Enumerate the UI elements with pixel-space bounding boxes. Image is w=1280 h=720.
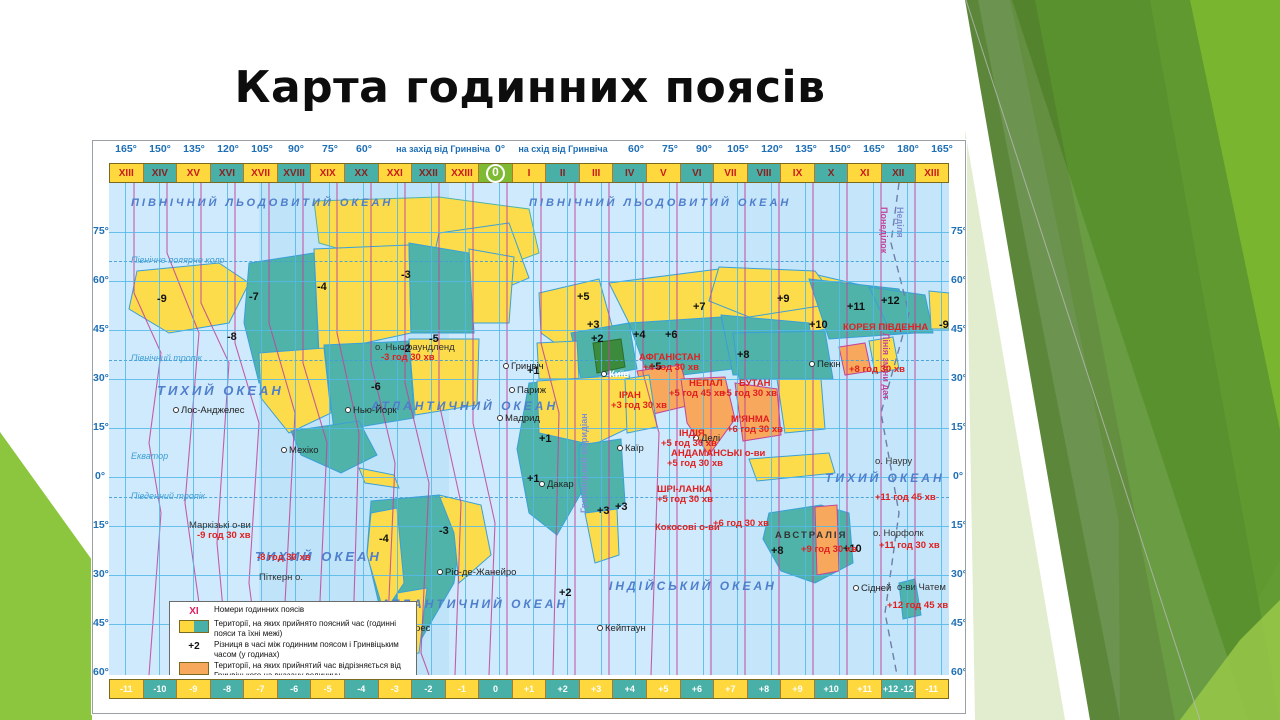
zone-number-cell: XVI <box>211 164 245 182</box>
latitude-label-left: 15° <box>93 421 109 433</box>
longitude-label: 90° <box>288 143 304 155</box>
zone-offset: +3 <box>615 501 628 513</box>
zone-number-cell: VIII <box>748 164 782 182</box>
zone-offset: -9 <box>939 319 949 331</box>
latitude-label-right: 75° <box>951 225 966 237</box>
special-zone-offset: +6 год 30 хв <box>727 425 783 435</box>
city-dot <box>809 361 815 367</box>
offset-cell: -8 <box>211 680 245 698</box>
special-zone-offset: +11 год 45 хв <box>875 493 936 503</box>
special-zone-offset: +6 год 30 хв <box>713 519 769 529</box>
zone-offset: +3 <box>597 505 610 517</box>
city-name: Каїр <box>625 443 644 454</box>
zone-number-cell: VI <box>681 164 715 182</box>
city-dot <box>173 407 179 413</box>
ocean-label: АТЛАНТИЧНИЙ ОКЕАН <box>371 399 558 413</box>
latitude-label-right: 60° <box>951 666 966 678</box>
zone-number-cell: XXII <box>412 164 446 182</box>
special-zone-offset: +3 год 30 хв <box>611 401 667 411</box>
zone-offset: -9 <box>157 293 167 305</box>
city-label: Нью-Йорк <box>345 405 397 416</box>
city-label: Пекін <box>809 359 841 370</box>
city-label: Кейптаун <box>597 623 646 634</box>
zone-number-cell: I <box>513 164 547 182</box>
offset-cell: -7 <box>244 680 278 698</box>
zone-number-cell: XII <box>882 164 916 182</box>
latitude-label-left: 0° <box>95 470 105 482</box>
legend-swatch-zone-pair <box>179 620 209 633</box>
legend-offset-sample: +2 <box>188 641 199 652</box>
offset-cell: +9 <box>781 680 815 698</box>
offset-cell: +11 <box>848 680 882 698</box>
zone-offset: -3 <box>439 525 449 537</box>
zone-offset: -4 <box>379 533 389 545</box>
special-zone-name: КОРЕЯ ПІВДЕННА <box>843 323 928 333</box>
zone-offset: +6 <box>665 329 678 341</box>
special-zone-offset: +11 год 30 хв <box>879 541 940 551</box>
offset-cell: +12 -12 <box>882 680 916 698</box>
offset-cell: +4 <box>613 680 647 698</box>
city-dot <box>509 387 515 393</box>
city-label: Мадрид <box>497 413 540 424</box>
city-dot <box>597 625 603 631</box>
zone-number-cell: IV <box>613 164 647 182</box>
city-dot <box>281 447 287 453</box>
legend-text: Різниця в часі між годинним поясом і Гри… <box>214 640 412 659</box>
latitude-label-right: 0° <box>953 470 963 482</box>
zone-offset: +5 <box>577 291 590 303</box>
longitude-label: 165° <box>863 143 885 155</box>
longitude-label: 90° <box>696 143 712 155</box>
zone-offset: +9 <box>777 293 790 305</box>
ocean-label: ПІВНІЧНИЙ ЛЬОДОВИТИЙ ОКЕАН <box>131 197 393 209</box>
geo-line-label: Південний тропік <box>131 491 205 501</box>
city-label: Гринвіч <box>503 361 544 372</box>
zone-number-cell: XIII <box>916 164 949 182</box>
special-zone-offset: +5 год 30 хв <box>667 459 723 469</box>
city-name: Мехіко <box>289 445 319 456</box>
zone-number-cell: III <box>580 164 614 182</box>
zone-number-cell: 0 <box>479 164 513 182</box>
longitude-label: 150° <box>829 143 851 155</box>
offset-cell: -10 <box>144 680 178 698</box>
city-dot <box>345 407 351 413</box>
legend-key <box>174 661 214 675</box>
latitude-label-right: 30° <box>951 372 966 384</box>
longitude-label: 135° <box>795 143 817 155</box>
special-zone-offset: +9 год 30 хв <box>801 545 857 555</box>
longitude-label: 165° <box>931 143 953 155</box>
zone-number-cell: XI <box>848 164 882 182</box>
zone-offset: -8 <box>227 331 237 343</box>
city-dot <box>539 481 545 487</box>
special-zone-name: Кокосові о-ви <box>655 523 720 533</box>
zone-number-cell: XXIII <box>446 164 480 182</box>
special-zone-offset: +5 год 30 хв <box>657 495 713 505</box>
special-zone-name: о. Науру <box>875 457 912 467</box>
zone-number-cell: XIII <box>110 164 144 182</box>
legend-row: Території, на яких прийнятий час відрізн… <box>174 661 412 675</box>
legend-text: Номери годинних поясів <box>214 605 304 615</box>
special-zone-offset: -3 год 30 хв <box>381 353 435 363</box>
latitude-label-left: 60° <box>93 666 109 678</box>
special-zone-offset: +12 год 45 хв <box>887 601 948 611</box>
zone-offset: -6 <box>371 381 381 393</box>
vertical-label-monday: Понеділок <box>879 207 889 253</box>
zone-offset: +8 <box>771 545 784 557</box>
zone-offset: +11 <box>847 301 865 313</box>
latitude-label-left: 60° <box>93 274 109 286</box>
zone-offset: +2 <box>591 333 604 345</box>
zone-offset: +12 <box>881 295 900 307</box>
legend-row: Території, на яких прийнято поясний час … <box>174 619 412 638</box>
longitude-label: 0° <box>495 143 505 155</box>
longitude-caption-east: на схід від Гринвіча <box>518 144 607 154</box>
special-zone-offset: -8 год 30 хв <box>257 553 311 563</box>
zone-number-cell: XIX <box>311 164 345 182</box>
city-name: Дакар <box>547 479 574 490</box>
special-zone-name: о. Норфолк <box>873 529 924 539</box>
latitude-label-right: 30° <box>951 568 966 580</box>
offset-cell: +6 <box>681 680 715 698</box>
zone-number-cell: VII <box>714 164 748 182</box>
city-name: Кейптаун <box>605 623 646 634</box>
ocean-label: ПІВНІЧНИЙ ЛЬОДОВИТИЙ ОКЕАН <box>529 197 791 209</box>
offset-cell: -11 <box>916 680 949 698</box>
zone-offset: +3 <box>587 319 600 331</box>
longitude-label: 75° <box>322 143 338 155</box>
zone-number-cell: X <box>815 164 849 182</box>
latitude-label-left: 45° <box>93 323 109 335</box>
city-name: Пекін <box>817 359 841 370</box>
zone-offset: +8 <box>737 349 750 361</box>
city-label: Дакар <box>539 479 574 490</box>
latitude-label-left: 75° <box>93 225 109 237</box>
page-title: Карта годинних поясів <box>0 62 1060 113</box>
offset-cell: -3 <box>379 680 413 698</box>
zone-offset: +4 <box>633 329 646 341</box>
city-dot <box>497 415 503 421</box>
map-inner: 165° 150° 135° 120° 105° 90° 75° 60° на … <box>93 141 965 713</box>
zone-number-cell: XVIII <box>278 164 312 182</box>
zone-number-cell: XX <box>345 164 379 182</box>
geo-line-label: Північний тропік <box>131 353 202 363</box>
special-zone-offset: +5 год 30 хв <box>721 389 777 399</box>
longitude-label: 150° <box>149 143 171 155</box>
zone-offset: +10 <box>809 319 828 331</box>
legend-text: Території, на яких прийнято поясний час … <box>214 619 412 638</box>
zone-number-cell: XV <box>177 164 211 182</box>
city-label: Сідней <box>853 583 891 594</box>
offset-cell: -9 <box>177 680 211 698</box>
offset-cell: -4 <box>345 680 379 698</box>
legend-key: XI <box>174 605 214 617</box>
ocean-label: ТИХИЙ ОКЕАН <box>157 383 284 398</box>
zone-offset: +2 <box>559 587 572 599</box>
special-zone-offset: +5 год 45 хв <box>669 389 725 399</box>
longitude-label-strip: 165° 150° 135° 120° 105° 90° 75° 60° на … <box>93 143 965 163</box>
city-dot <box>437 569 443 575</box>
offset-cell: +7 <box>714 680 748 698</box>
legend-roman-sample: XI <box>189 606 198 617</box>
map-legend: XI Номери годинних поясів Території, на … <box>169 601 417 675</box>
latitude-label-right: 15° <box>951 519 966 531</box>
ocean-label: ІНДІЙСЬКИЙ ОКЕАН <box>609 579 777 593</box>
city-name: Нью-Йорк <box>353 405 397 416</box>
zone-offset: +1 <box>539 433 552 445</box>
zone-number-cell: IX <box>781 164 815 182</box>
zone-number-cell: XXI <box>379 164 413 182</box>
legend-text: Території, на яких прийнятий час відрізн… <box>214 661 412 675</box>
zone-number-cell: XVII <box>244 164 278 182</box>
longitude-label: 60° <box>356 143 372 155</box>
special-zone-name: Піткерн о. <box>259 573 303 583</box>
latitude-label-right: 45° <box>951 323 966 335</box>
latitude-label-left: 45° <box>93 617 109 629</box>
map-canvas: ПІВНІЧНИЙ ЛЬОДОВИТИЙ ОКЕАН ПІВНІЧНИЙ ЛЬО… <box>109 183 949 675</box>
city-name: Гринвіч <box>511 361 544 372</box>
longitude-label: 120° <box>761 143 783 155</box>
longitude-label: 120° <box>217 143 239 155</box>
offset-cell: -5 <box>311 680 345 698</box>
city-dot <box>617 445 623 451</box>
latitude-label-right: 60° <box>951 274 966 286</box>
longitude-label: 75° <box>662 143 678 155</box>
latitude-label-right: 15° <box>951 421 966 433</box>
zone-offset: -7 <box>249 291 259 303</box>
offset-cell: +2 <box>546 680 580 698</box>
zone-offset: +7 <box>693 301 706 313</box>
city-label: Париж <box>509 385 546 396</box>
zone-offset: +1 <box>527 473 540 485</box>
offset-cell: 0 <box>479 680 513 698</box>
city-dot <box>503 363 509 369</box>
zone-number-cell: II <box>546 164 580 182</box>
offset-cell: +1 <box>513 680 547 698</box>
legend-row: +2 Різниця в часі між годинним поясом і … <box>174 640 412 659</box>
legend-swatch-orange <box>179 662 209 675</box>
geo-line-label: Північне полярне коло <box>131 255 225 265</box>
latitude-label-left: 30° <box>93 372 109 384</box>
offset-cell: +3 <box>580 680 614 698</box>
city-label: Лос-Анджелес <box>173 405 244 416</box>
offset-cell: -1 <box>446 680 480 698</box>
city-name: Київ <box>609 369 629 380</box>
latitude-label-right: 45° <box>951 617 966 629</box>
longitude-label: 60° <box>628 143 644 155</box>
city-name: Лос-Анджелес <box>181 405 244 416</box>
longitude-caption-west: на захід від Гринвіча <box>396 144 490 154</box>
city-label: Київ <box>601 369 629 380</box>
special-zone-name: АВСТРАЛІЯ <box>775 531 847 541</box>
offset-cell: +8 <box>748 680 782 698</box>
longitude-label: 105° <box>727 143 749 155</box>
time-zone-map: 165° 150° 135° 120° 105° 90° 75° 60° на … <box>92 140 966 714</box>
zone-offset: -3 <box>401 269 411 281</box>
city-dot <box>853 585 859 591</box>
ocean-label: ТИХИЙ ОКЕАН <box>825 471 945 485</box>
city-name: Париж <box>517 385 546 396</box>
city-label: Каїр <box>617 443 644 454</box>
city-label: Ріо-де-Жанейро <box>437 567 516 578</box>
zone-offset: -4 <box>317 281 327 293</box>
longitude-label: 105° <box>251 143 273 155</box>
city-name: Мадрид <box>505 413 540 424</box>
offset-cell: +10 <box>815 680 849 698</box>
legend-key <box>174 619 214 633</box>
latitude-label-left: 15° <box>93 519 109 531</box>
zone-number-bar: XIIIXIVXVXVIXVIIXVIIIXIXXXXXIXXIIXXIII0I… <box>109 163 949 183</box>
vertical-label-sunday: Неділя <box>895 207 905 238</box>
special-zone-offset: +4 год 30 хв <box>643 363 699 373</box>
longitude-label: 180° <box>897 143 919 155</box>
legend-row: XI Номери годинних поясів <box>174 605 412 617</box>
city-name: Ріо-де-Жанейро <box>445 567 516 578</box>
vertical-label-greenwich-meridian: Гринвіцький меридіан <box>579 413 589 513</box>
city-label: Мехіко <box>281 445 319 456</box>
longitude-label: 135° <box>183 143 205 155</box>
offset-cell: -11 <box>110 680 144 698</box>
offset-cell: +5 <box>647 680 681 698</box>
zone-number-cell: XIV <box>144 164 178 182</box>
latitude-label-left: 30° <box>93 568 109 580</box>
legend-key: +2 <box>174 640 214 652</box>
special-zone-offset: -9 год 30 хв <box>197 531 251 541</box>
offset-cell: -2 <box>412 680 446 698</box>
city-name: Сідней <box>861 583 891 594</box>
special-zone-offset: +8 год 30 хв <box>849 365 905 375</box>
special-zone-name: о-ви Чатем <box>897 583 946 593</box>
offset-bar: -11-10-9-8-7-6-5-4-3-2-10+1+2+3+4+5+6+7+… <box>109 679 949 699</box>
longitude-label: 165° <box>115 143 137 155</box>
geo-line-label: Екватор <box>131 451 168 461</box>
offset-cell: -6 <box>278 680 312 698</box>
city-dot <box>601 371 607 377</box>
zone-number-cell: V <box>647 164 681 182</box>
